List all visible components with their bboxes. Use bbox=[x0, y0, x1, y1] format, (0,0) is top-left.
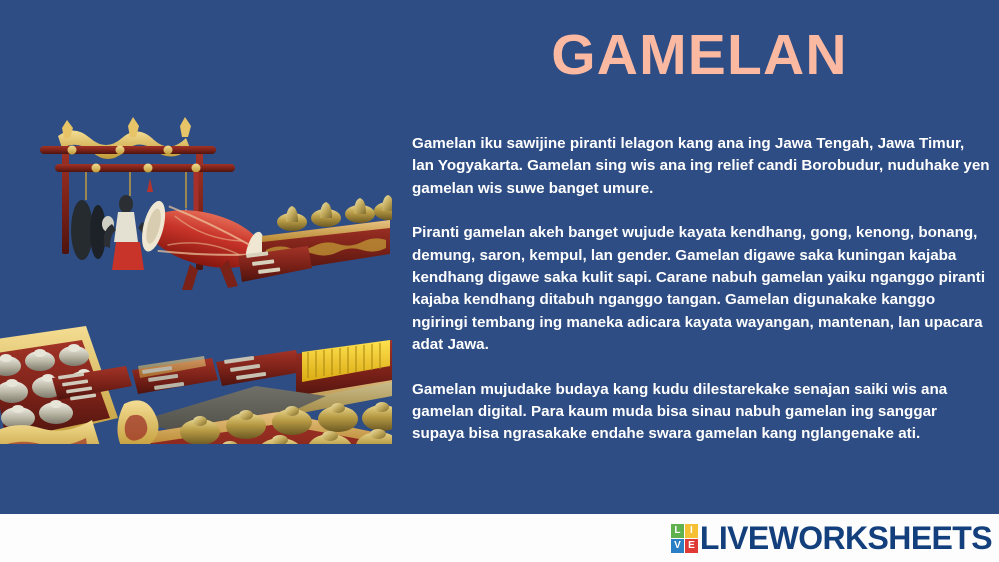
logo-tile-v: V bbox=[671, 539, 684, 553]
paragraph-3: Gamelan mujudake budaya kang kudu dilest… bbox=[412, 379, 990, 446]
body-copy: Gamelan iku sawijine piranti lelagon kan… bbox=[412, 133, 990, 446]
paragraph-1: Gamelan iku sawijine piranti lelagon kan… bbox=[412, 133, 990, 200]
brand-wordmark: LIVEWORKSHEETS bbox=[700, 522, 992, 554]
logo-tile-l: L bbox=[671, 524, 684, 538]
live-tiles: L I V E bbox=[671, 524, 698, 553]
logo-tile-i: I bbox=[685, 524, 698, 538]
footer-bar: L I V E LIVEWORKSHEETS bbox=[0, 514, 999, 562]
paragraph-2: Piranti gamelan akeh banget wujude kayat… bbox=[412, 222, 990, 356]
slide-stage: GAMELAN Gamelan iku sawijine piranti lel… bbox=[0, 0, 999, 514]
worksheet-slide: GAMELAN Gamelan iku sawijine piranti lel… bbox=[0, 0, 999, 562]
gamelan-ensemble-photo bbox=[0, 104, 392, 444]
logo-tile-e: E bbox=[685, 539, 698, 553]
page-title: GAMELAN bbox=[412, 26, 987, 86]
liveworksheets-logo[interactable]: L I V E LIVEWORKSHEETS bbox=[671, 523, 992, 553]
